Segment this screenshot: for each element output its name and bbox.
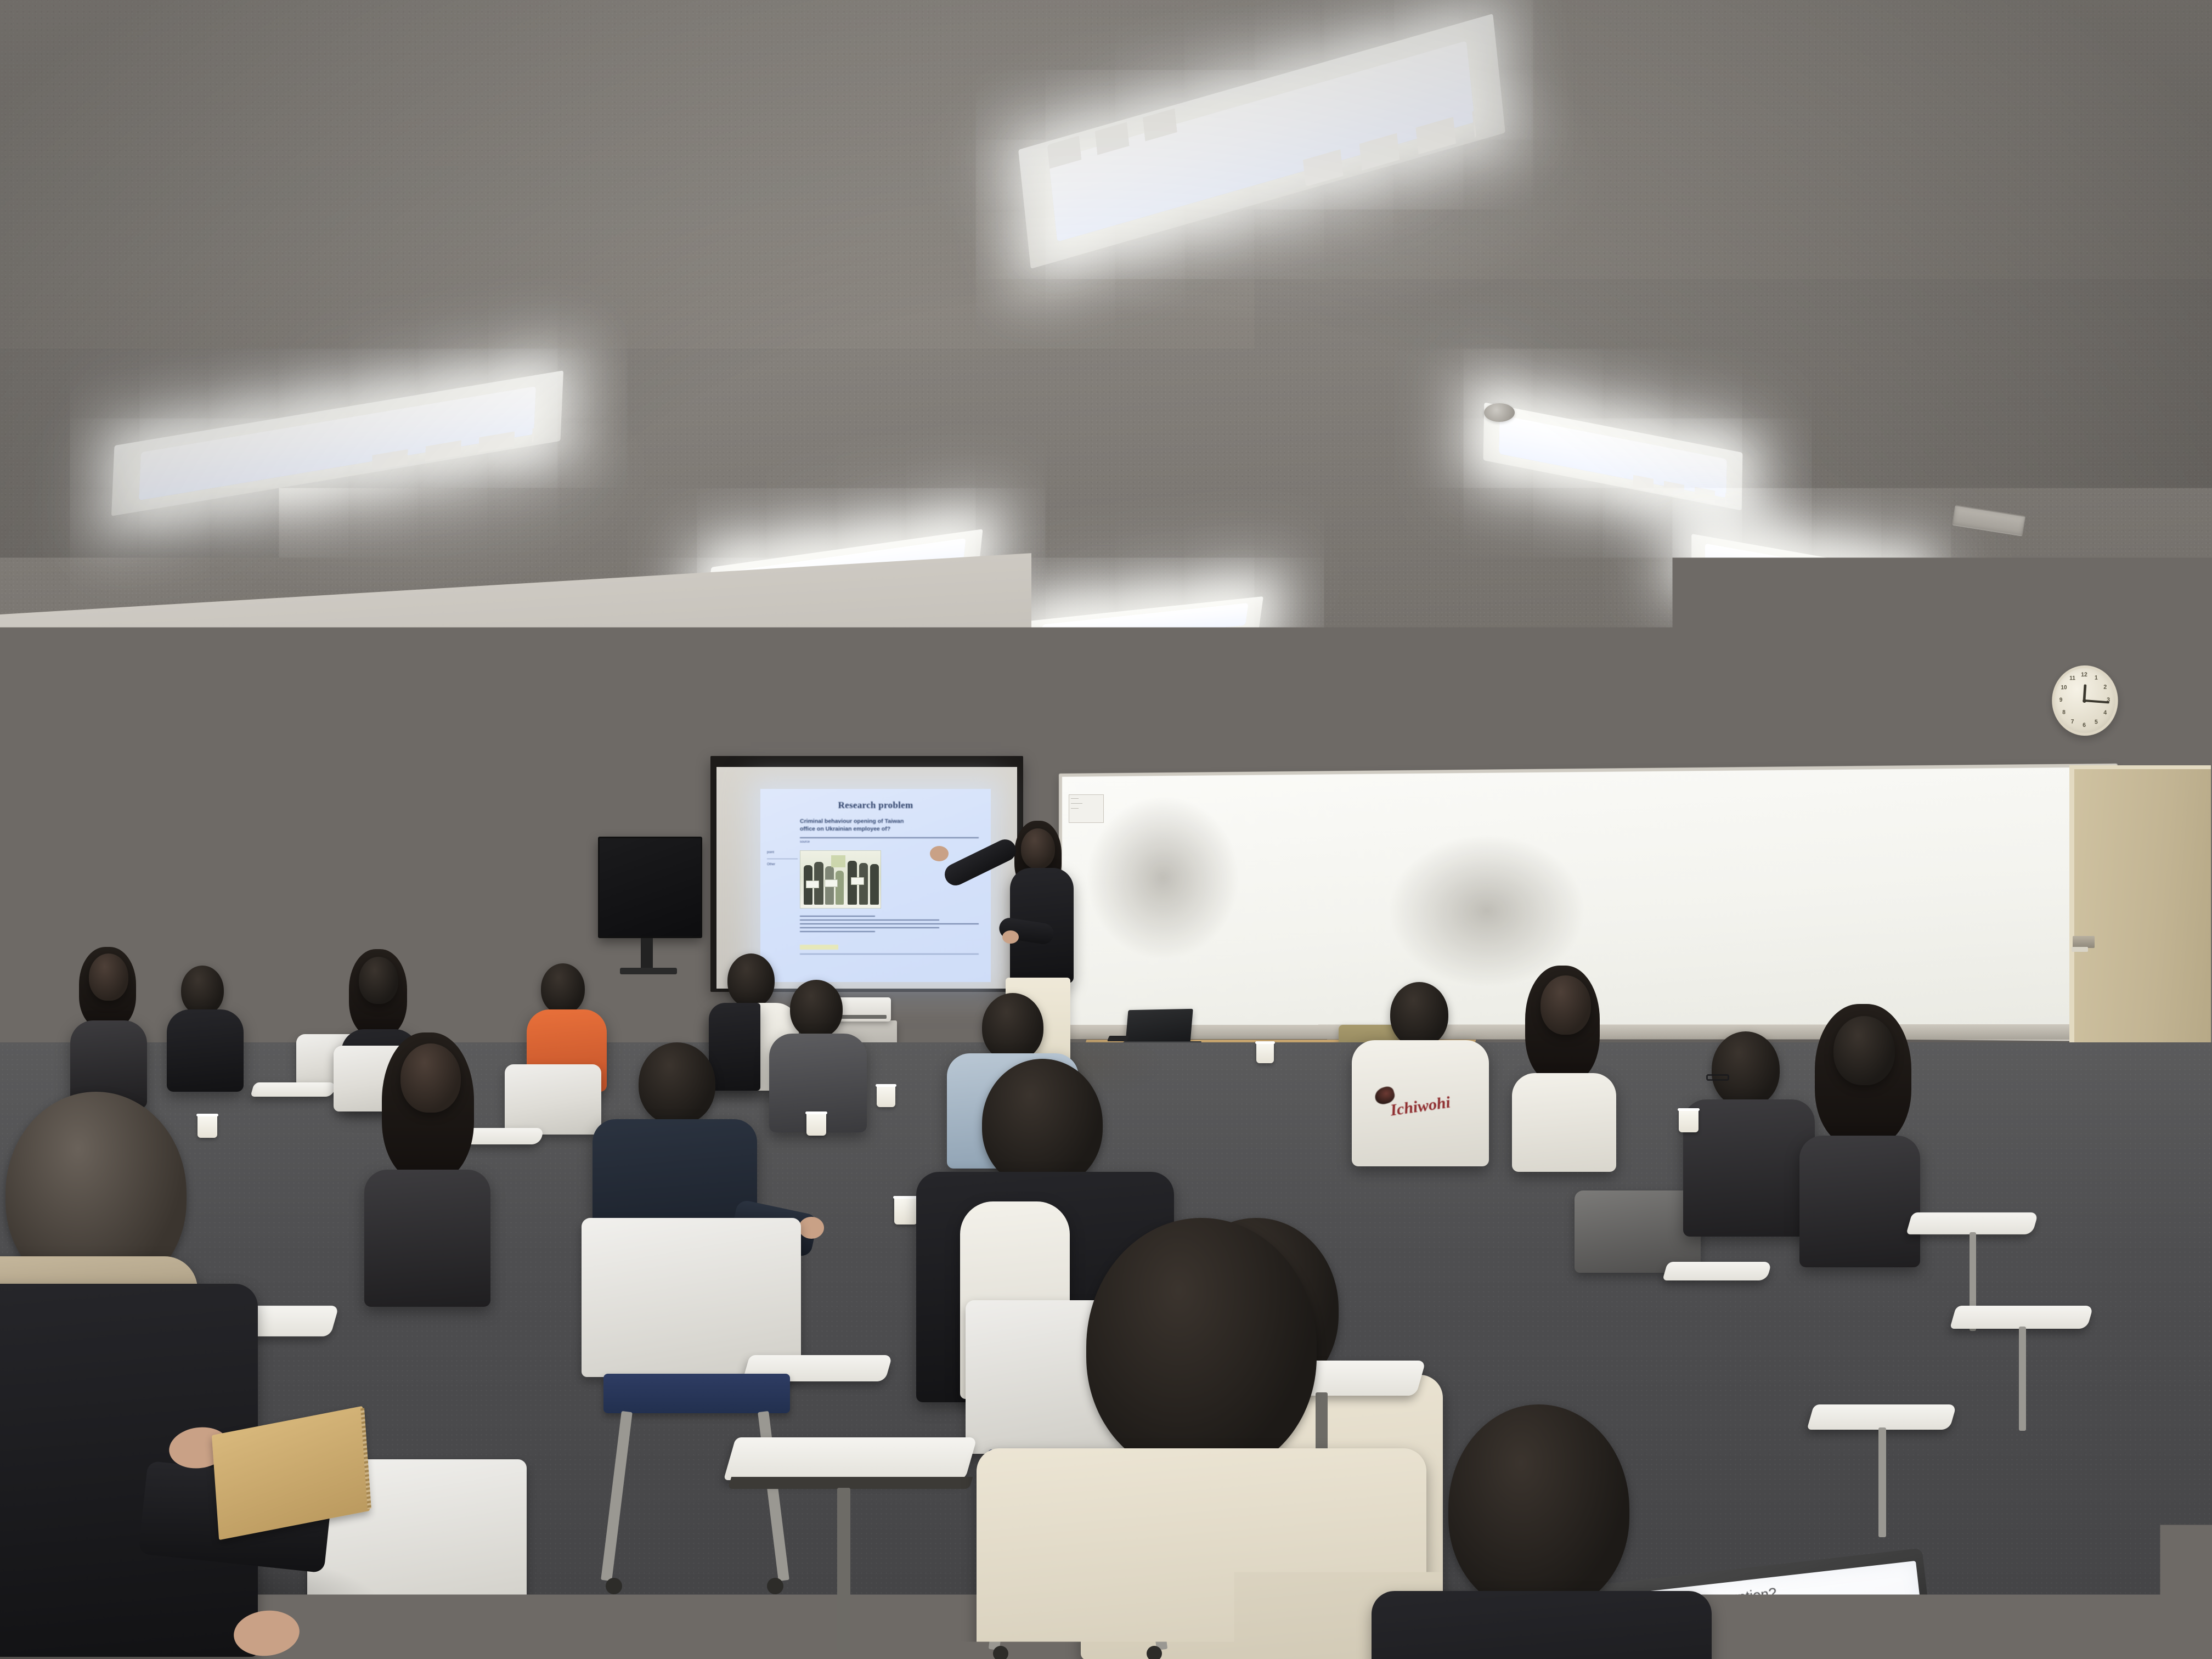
slide-body-lines (800, 913, 979, 935)
window-mullion-1 (69, 642, 76, 953)
door-lock-plate (2072, 947, 2088, 952)
coffee-cup-b[interactable] (877, 1084, 895, 1107)
slide-subtitle: Criminal behaviour opening of Taiwan off… (800, 817, 979, 833)
student-mid-puffer-head (639, 1042, 715, 1125)
student-right-glasses-torso (1683, 1099, 1815, 1237)
whiteboard-notice: —— ——— —— (1069, 794, 1104, 823)
instructor-laptop-lid[interactable] (1125, 1009, 1193, 1044)
clock-number-5: 5 (2092, 719, 2100, 725)
student-center-dark-head (982, 1059, 1103, 1188)
clock-number-6: 6 (2080, 722, 2087, 729)
student-right-longhair-torso (1799, 1136, 1920, 1267)
monitor-stand-neck (641, 938, 653, 971)
window-blind-left-2[interactable] (198, 658, 362, 956)
student-right-white-blouse-head (1541, 975, 1591, 1035)
clock-center-pin (2083, 698, 2086, 702)
foreground-person-bottom-center-head (1086, 1218, 1317, 1476)
slide-divider (800, 837, 979, 838)
slide-footer-rule (800, 953, 979, 955)
window-blind-far-left[interactable] (0, 645, 71, 960)
student-right-white-blouse-torso (1512, 1073, 1616, 1172)
clock-number-11: 11 (2069, 675, 2076, 681)
student-right-tshirt-head (1390, 982, 1448, 1047)
slide-left-label-2: Other (767, 863, 775, 866)
window-mullion-3 (360, 670, 366, 945)
student-row1-d-head (541, 963, 585, 1014)
window-mullion-2 (195, 654, 201, 951)
student-right-glasses-head (1712, 1031, 1780, 1107)
whiteboard-shadow-center (1388, 834, 1585, 988)
ceiling-beam-d (1558, 639, 1827, 664)
coffee-cup-c[interactable] (198, 1114, 217, 1138)
glasses-icon (1706, 1074, 1729, 1081)
student-row1-f-head (982, 993, 1043, 1061)
student-row1-e-vest (709, 1003, 760, 1091)
presenter-pointing-hand (930, 846, 949, 861)
foreground-person-bottom-right-head (1448, 1404, 1629, 1613)
student-mid-grey-head (790, 980, 843, 1038)
student-row1-a-head (181, 966, 224, 1015)
student-row1-a-torso (167, 1009, 244, 1092)
coffee-cup-d[interactable] (1679, 1108, 1699, 1132)
coffee-cup-a[interactable] (806, 1111, 826, 1136)
whiteboard-notice-line-3: —— (1071, 806, 1102, 811)
student-mid-puffer-hand (799, 1217, 824, 1239)
student-mid-pink-head (400, 1043, 461, 1113)
student-row1-c-head (359, 957, 398, 1004)
ceiling-beam-c (1273, 645, 1509, 670)
clock-number-12: 12 (2080, 672, 2087, 678)
whiteboard-shadow-left (1086, 795, 1240, 960)
clock-number-9: 9 (2057, 697, 2064, 703)
slide-highlight (800, 945, 838, 950)
whiteboard-notice-line-2: ——— (1071, 802, 1102, 806)
coffee-cup-mid-puffer[interactable] (894, 1196, 917, 1224)
slide-title: Research problem (760, 800, 991, 811)
coffee-cup-e[interactable] (1256, 1041, 1274, 1063)
window-blind-left-1[interactable] (71, 650, 198, 961)
clock-number-7: 7 (2069, 719, 2076, 725)
foreground-person-bottom-center-torso (977, 1448, 1426, 1659)
student-right-longhair-head (1833, 1016, 1895, 1085)
whiteboard-notice-line-1: —— (1071, 797, 1102, 802)
slide-left-labels: point Other (767, 849, 798, 868)
foreground-person-bottom-right-torso (1372, 1591, 1712, 1659)
student-row1-e-head (727, 953, 775, 1007)
window-mullion-4 (519, 689, 524, 941)
door-handle[interactable] (2073, 936, 2095, 948)
student-row1-b-head (89, 953, 128, 1001)
window-blind-left-3[interactable] (362, 675, 521, 953)
clock-number-2: 2 (2101, 684, 2109, 690)
monitor-stand-base (620, 968, 677, 974)
classroom-door[interactable] (2069, 765, 2211, 1073)
presenter-resting-hand (1002, 930, 1019, 944)
clock-number-1: 1 (2092, 674, 2100, 681)
slide-photo (800, 850, 881, 909)
clock-hour-hand (2083, 684, 2087, 701)
smoke-detector-right (1484, 403, 1515, 422)
student-mid-pink-torso (364, 1170, 490, 1307)
clock-number-10: 10 (2061, 684, 2068, 691)
slide-left-label-1: point (767, 851, 774, 854)
wall-monitor (598, 837, 702, 938)
classroom-scene: —— ——— —— 12 1 2 3 4 5 6 7 8 9 10 11 Res… (0, 0, 2212, 1659)
presenter-head (1021, 828, 1055, 869)
clock-number-8: 8 (2061, 709, 2068, 716)
slide-caption: source (800, 840, 810, 844)
clock-number-4: 4 (2101, 709, 2109, 716)
